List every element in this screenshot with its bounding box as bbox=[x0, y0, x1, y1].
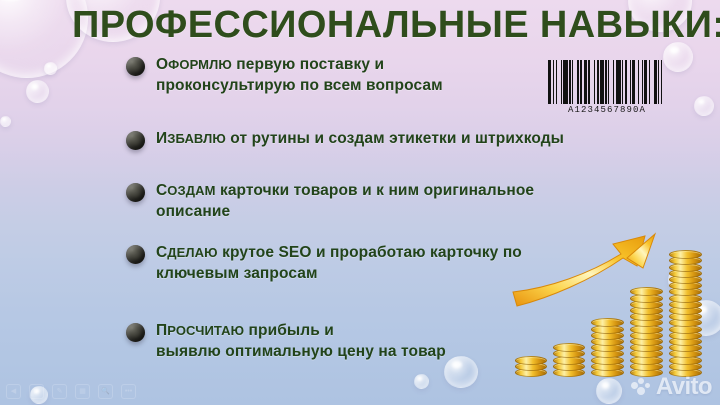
skill-item: СДЕЛАЮ крутое SEO и проработаю карточку … bbox=[126, 242, 522, 284]
bubble-decoration bbox=[0, 116, 11, 127]
slide-title: ПРОФЕССИОНАЛЬНЫЕ НАВЫКИ: bbox=[72, 4, 720, 47]
bubble-decoration bbox=[26, 80, 49, 103]
bubble-decoration bbox=[44, 62, 57, 75]
skill-item-line: ОФОРМЛЮ первую поставку и bbox=[156, 54, 443, 75]
skill-item-text: ПРОСЧИТАЮ прибыль ивыявлю оптимальную це… bbox=[156, 320, 446, 362]
bubble-decoration bbox=[444, 356, 478, 388]
avito-logo-icon bbox=[631, 378, 651, 396]
slide-canvas: ПРОФЕССИОНАЛЬНЫЕ НАВЫКИ: A1234567890A ОФ… bbox=[0, 0, 720, 405]
skill-item: ПРОСЧИТАЮ прибыль ивыявлю оптимальную це… bbox=[126, 320, 446, 362]
coin-stack bbox=[669, 247, 700, 377]
barcode-bar bbox=[662, 60, 665, 104]
growth-chart-graphic bbox=[505, 232, 720, 377]
bullet-dot-icon bbox=[126, 245, 145, 264]
zoom-icon[interactable]: 🔍 bbox=[98, 384, 113, 399]
coin-stack bbox=[630, 284, 661, 377]
bullet-dot-icon bbox=[126, 57, 145, 76]
coin-stack bbox=[591, 315, 622, 377]
coin-stack bbox=[515, 352, 545, 377]
skill-item-line: ПРОСЧИТАЮ прибыль и bbox=[156, 320, 446, 341]
skill-item-line: СОЗДАМ карточки товаров и к ним оригинал… bbox=[156, 180, 534, 201]
coin-stack bbox=[553, 340, 583, 377]
avito-label: Avito bbox=[656, 375, 712, 399]
bullet-dot-icon bbox=[126, 323, 145, 342]
skill-item-line: СДЕЛАЮ крутое SEO и проработаю карточку … bbox=[156, 242, 522, 263]
play-icon[interactable]: ▶ bbox=[29, 384, 44, 399]
bubble-decoration bbox=[414, 374, 429, 389]
skill-item-text: СОЗДАМ карточки товаров и к ним оригинал… bbox=[156, 180, 534, 222]
skill-item-line: описание bbox=[156, 201, 534, 222]
skill-item-line: проконсультирую по всем вопросам bbox=[156, 75, 443, 96]
barcode-bars bbox=[548, 60, 666, 104]
skill-item-line: ключевым запросам bbox=[156, 263, 522, 284]
barcode-image: A1234567890A bbox=[548, 60, 666, 115]
pen-icon[interactable]: ✎ bbox=[52, 384, 67, 399]
skill-item: ОФОРМЛЮ первую поставку ипроконсультирую… bbox=[126, 54, 443, 96]
coin bbox=[515, 356, 547, 365]
skill-item-text: ОФОРМЛЮ первую поставку ипроконсультирую… bbox=[156, 54, 443, 96]
skill-item: ИЗБАВЛЮ от рутины и создам этикетки и шт… bbox=[126, 128, 564, 150]
skill-item-text: ИЗБАВЛЮ от рутины и создам этикетки и шт… bbox=[156, 128, 564, 149]
bubble-decoration bbox=[694, 96, 714, 116]
more-icon[interactable]: ••• bbox=[121, 384, 136, 399]
player-controls[interactable]: ◀▶✎▦🔍••• bbox=[6, 384, 136, 399]
barcode-label: A1234567890A bbox=[548, 105, 666, 115]
skill-item-text: СДЕЛАЮ крутое SEO и проработаю карточку … bbox=[156, 242, 522, 284]
grid-icon[interactable]: ▦ bbox=[75, 384, 90, 399]
skill-item-line: ИЗБАВЛЮ от рутины и создам этикетки и шт… bbox=[156, 128, 564, 149]
avito-watermark: Avito bbox=[631, 375, 712, 399]
bullet-dot-icon bbox=[126, 131, 145, 150]
skill-item: СОЗДАМ карточки товаров и к ним оригинал… bbox=[126, 180, 534, 222]
bubble-decoration bbox=[596, 378, 622, 404]
skill-item-line: выявлю оптимальную цену на товар bbox=[156, 341, 446, 362]
previous-icon[interactable]: ◀ bbox=[6, 384, 21, 399]
bullet-dot-icon bbox=[126, 183, 145, 202]
